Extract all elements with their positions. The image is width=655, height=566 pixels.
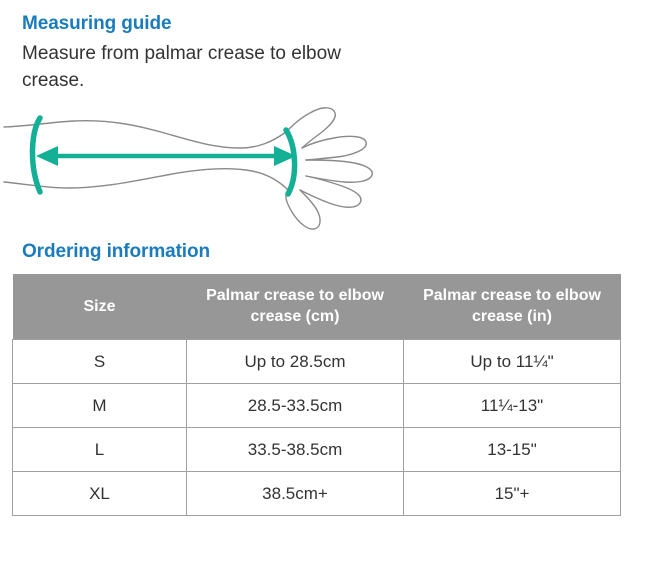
table-row: M 28.5-33.5cm 11¼-13" bbox=[13, 384, 621, 428]
size-chart-table: Size Palmar crease to elbow crease (cm) … bbox=[12, 274, 621, 516]
column-header-size: Size bbox=[13, 274, 187, 340]
size-guide-page: Measuring guide Measure from palmar crea… bbox=[0, 0, 655, 566]
forearm-measurement-diagram bbox=[0, 104, 420, 236]
cell-in: 13-15" bbox=[404, 428, 621, 472]
table-row: S Up to 28.5cm Up to 11¼" bbox=[13, 340, 621, 384]
table-header-row: Size Palmar crease to elbow crease (cm) … bbox=[13, 274, 621, 340]
table-row: XL 38.5cm+ 15"+ bbox=[13, 472, 621, 516]
measurement-arrow-icon bbox=[36, 146, 296, 166]
ordering-information-section: Ordering information Size Palmar crease … bbox=[12, 240, 632, 516]
measuring-guide-instruction: Measure from palmar crease to elbow crea… bbox=[22, 40, 382, 94]
cell-size: S bbox=[13, 340, 187, 384]
cell-size: XL bbox=[13, 472, 187, 516]
arm-diagram-svg bbox=[0, 104, 420, 236]
cell-size: L bbox=[13, 428, 187, 472]
cell-cm: Up to 28.5cm bbox=[187, 340, 404, 384]
cell-cm: 28.5-33.5cm bbox=[187, 384, 404, 428]
cell-cm: 33.5-38.5cm bbox=[187, 428, 404, 472]
measuring-guide-section: Measuring guide Measure from palmar crea… bbox=[22, 12, 622, 94]
cell-in: Up to 11¼" bbox=[404, 340, 621, 384]
arm-outline-icon bbox=[4, 108, 372, 229]
palmar-crease-band-icon bbox=[286, 130, 295, 194]
column-header-in: Palmar crease to elbow crease (in) bbox=[404, 274, 621, 340]
cell-size: M bbox=[13, 384, 187, 428]
table-row: L 33.5-38.5cm 13-15" bbox=[13, 428, 621, 472]
measuring-guide-heading: Measuring guide bbox=[22, 12, 622, 36]
cell-cm: 38.5cm+ bbox=[187, 472, 404, 516]
ordering-information-heading: Ordering information bbox=[22, 240, 632, 264]
cell-in: 11¼-13" bbox=[404, 384, 621, 428]
column-header-cm: Palmar crease to elbow crease (cm) bbox=[187, 274, 404, 340]
cell-in: 15"+ bbox=[404, 472, 621, 516]
